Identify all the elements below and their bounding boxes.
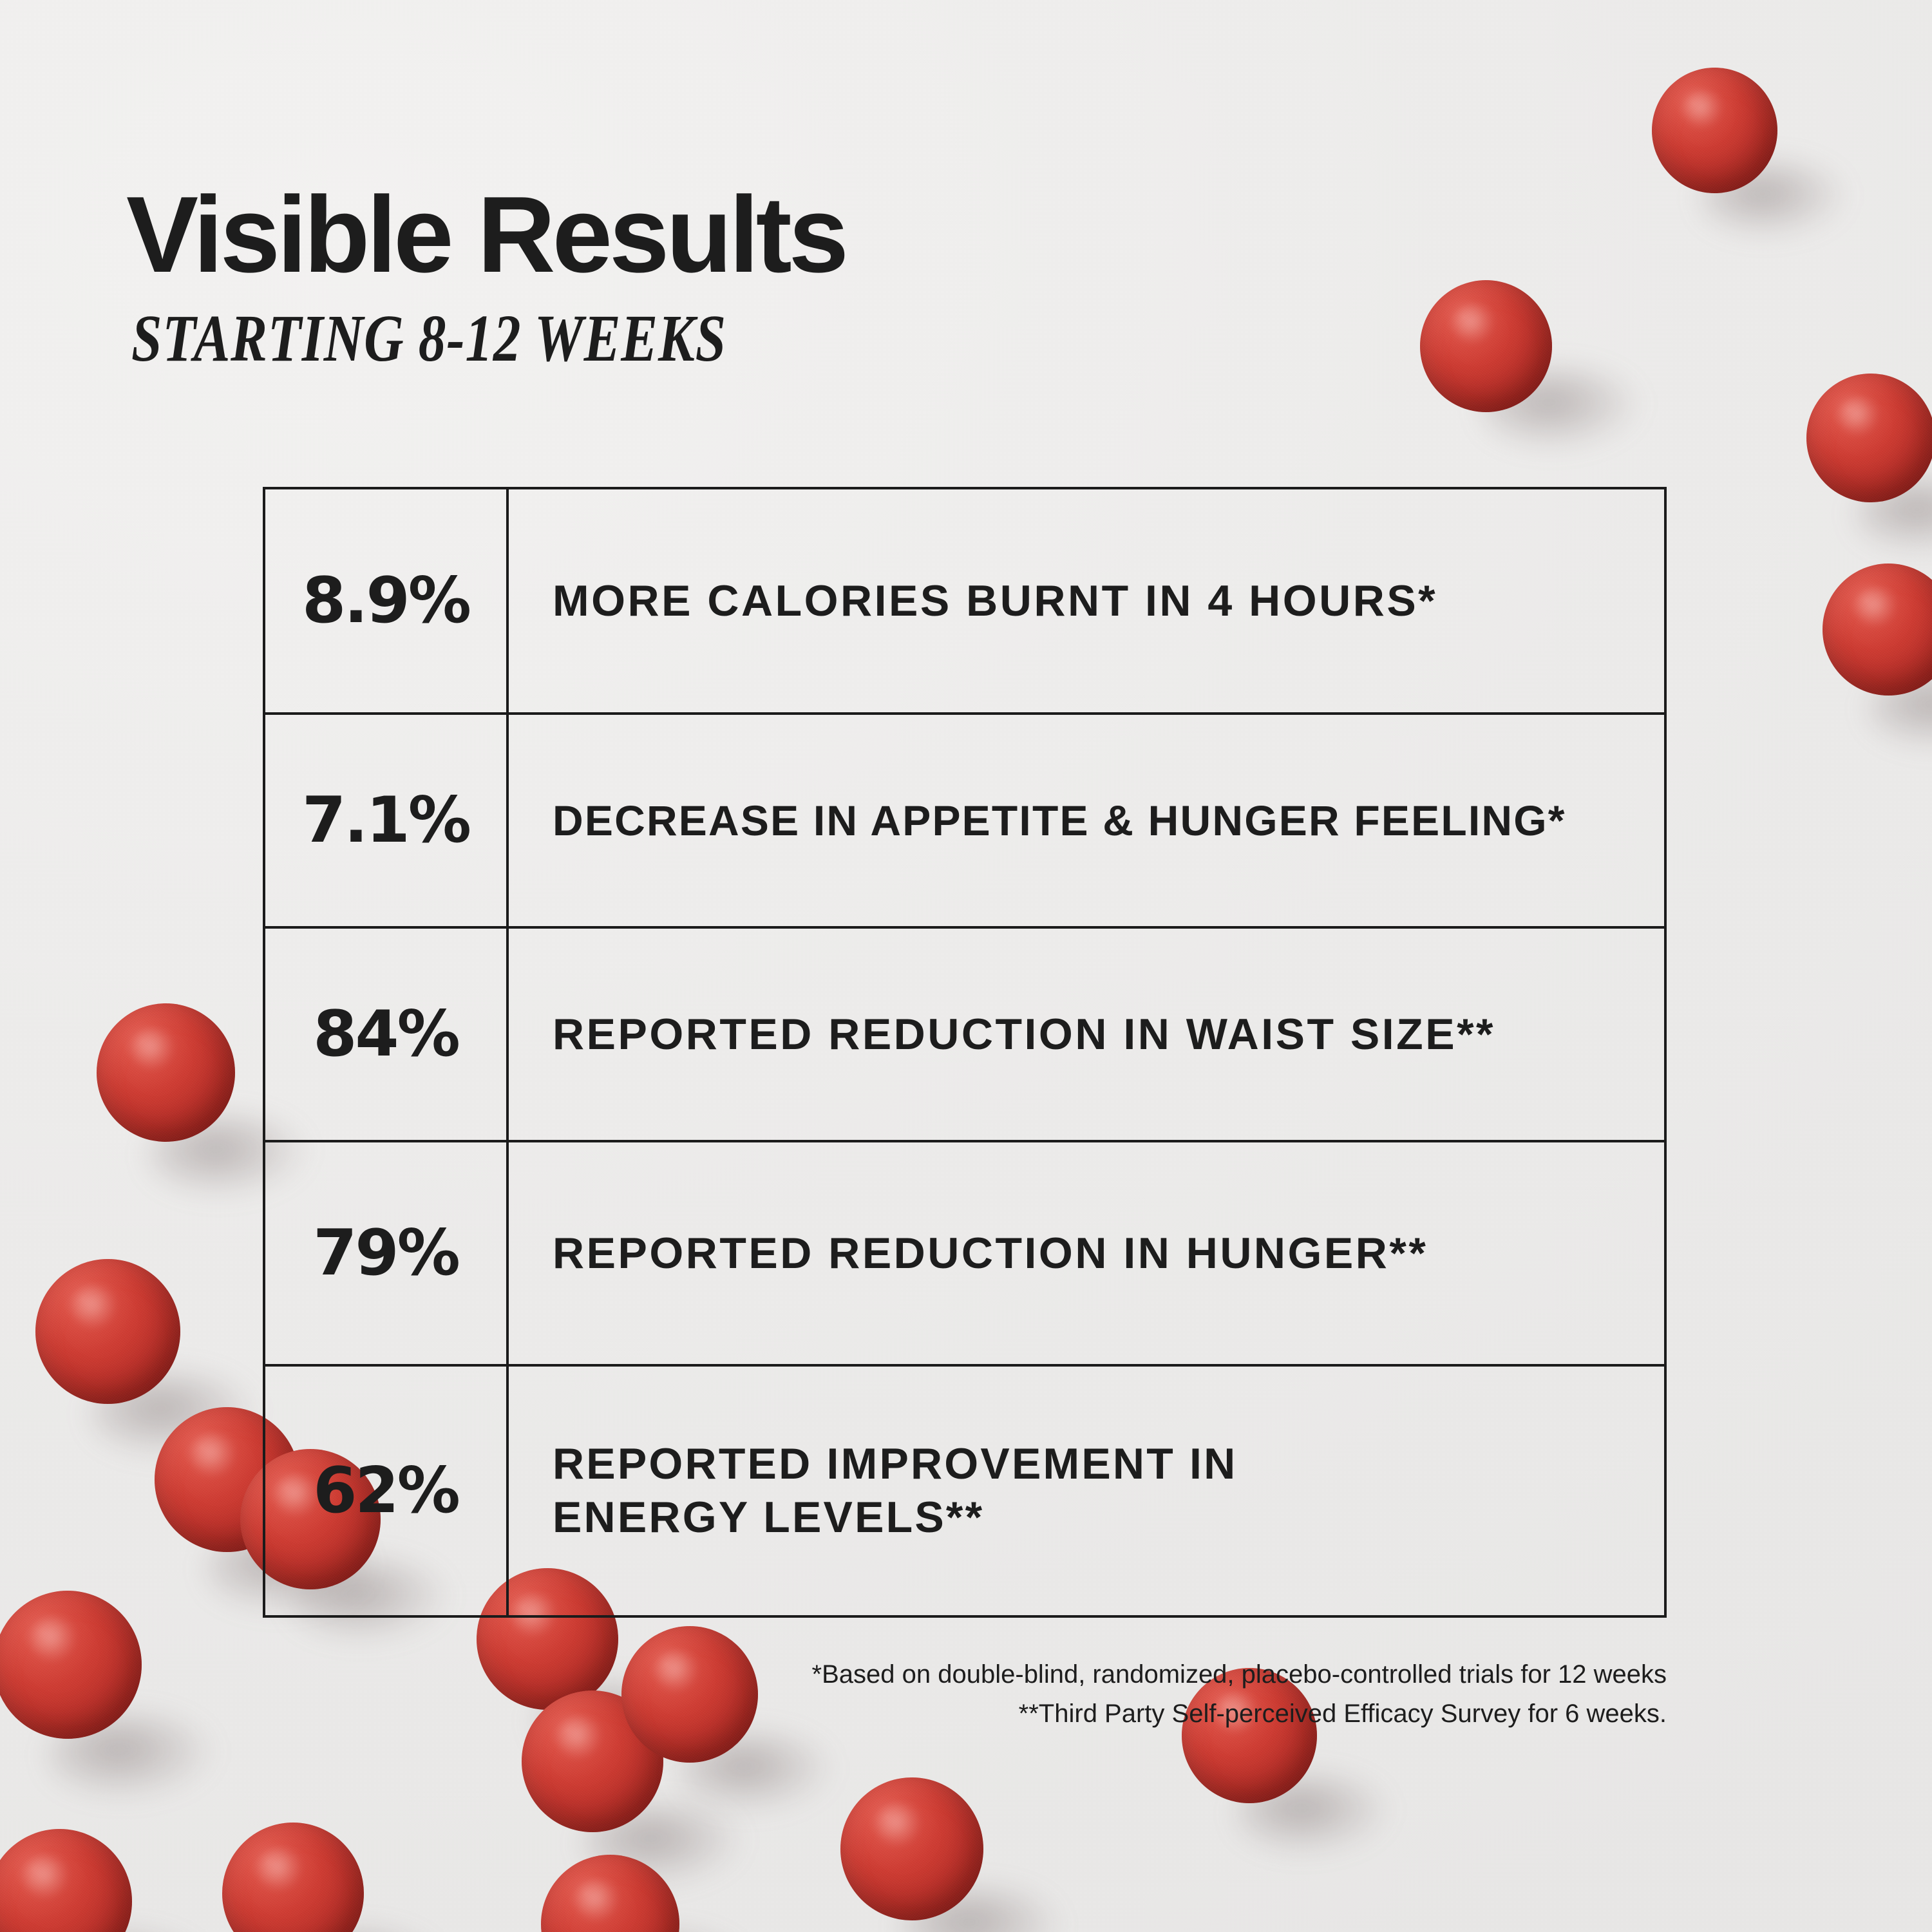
stat-label: DECREASE IN APPETITE & HUNGER FEELING*: [553, 795, 1566, 847]
page-subtitle: STARTING 8-12 WEEKS: [131, 305, 726, 372]
stat-value-cell: 8.9%: [265, 489, 509, 712]
title-block: Visible Results STARTING 8-12 WEEKS: [126, 180, 857, 372]
stat-label: REPORTED IMPROVEMENT IN ENERGY LEVELS**: [553, 1437, 1237, 1544]
footnote-double-asterisk: **Third Party Self-perceived Efficacy Su…: [812, 1694, 1667, 1734]
stat-value: 8.9%: [302, 564, 469, 638]
stat-label: REPORTED REDUCTION IN HUNGER**: [553, 1227, 1428, 1280]
red-matte-sphere: [621, 1626, 758, 1763]
stat-label-cell: MORE CALORIES BURNT IN 4 HOURS*: [509, 489, 1664, 712]
stat-value-cell: 62%: [265, 1367, 509, 1615]
red-matte-sphere: [1420, 280, 1552, 412]
table-row: 84% REPORTED REDUCTION IN WAIST SIZE**: [265, 929, 1664, 1142]
stat-label-cell: DECREASE IN APPETITE & HUNGER FEELING*: [509, 715, 1664, 926]
footnote-single-asterisk: *Based on double-blind, randomized, plac…: [812, 1655, 1667, 1694]
stat-value: 79%: [313, 1217, 459, 1290]
red-matte-sphere: [1806, 374, 1932, 502]
stat-label-cell: REPORTED IMPROVEMENT IN ENERGY LEVELS**: [509, 1367, 1664, 1615]
stat-value-cell: 7.1%: [265, 715, 509, 926]
table-row: 62% REPORTED IMPROVEMENT IN ENERGY LEVEL…: [265, 1367, 1664, 1615]
stat-value-cell: 84%: [265, 929, 509, 1140]
stat-value: 62%: [313, 1454, 459, 1528]
stat-label: MORE CALORIES BURNT IN 4 HOURS*: [553, 574, 1437, 628]
page-title: Visible Results: [126, 180, 857, 289]
footnotes: *Based on double-blind, randomized, plac…: [812, 1655, 1667, 1734]
red-matte-sphere: [0, 1829, 132, 1932]
stat-value: 84%: [313, 998, 459, 1071]
stat-label-cell: REPORTED REDUCTION IN WAIST SIZE**: [509, 929, 1664, 1140]
stat-label: REPORTED REDUCTION IN WAIST SIZE**: [553, 1008, 1495, 1061]
stats-table: 8.9% MORE CALORIES BURNT IN 4 HOURS* 7.1…: [263, 487, 1667, 1618]
red-matte-sphere: [222, 1823, 364, 1932]
red-matte-sphere: [35, 1259, 180, 1404]
red-matte-sphere: [1823, 563, 1932, 696]
table-row: 8.9% MORE CALORIES BURNT IN 4 HOURS*: [265, 489, 1664, 715]
red-matte-sphere: [97, 1003, 235, 1142]
red-matte-sphere: [0, 1591, 142, 1739]
poster-canvas: Visible Results STARTING 8-12 WEEKS 8.9%…: [0, 0, 1932, 1932]
stat-value-cell: 79%: [265, 1142, 509, 1364]
table-row: 7.1% DECREASE IN APPETITE & HUNGER FEELI…: [265, 715, 1664, 929]
stat-value: 7.1%: [302, 784, 469, 857]
table-row: 79% REPORTED REDUCTION IN HUNGER**: [265, 1142, 1664, 1367]
stat-label-cell: REPORTED REDUCTION IN HUNGER**: [509, 1142, 1664, 1364]
red-matte-sphere: [840, 1777, 983, 1920]
red-matte-sphere: [1652, 68, 1777, 193]
